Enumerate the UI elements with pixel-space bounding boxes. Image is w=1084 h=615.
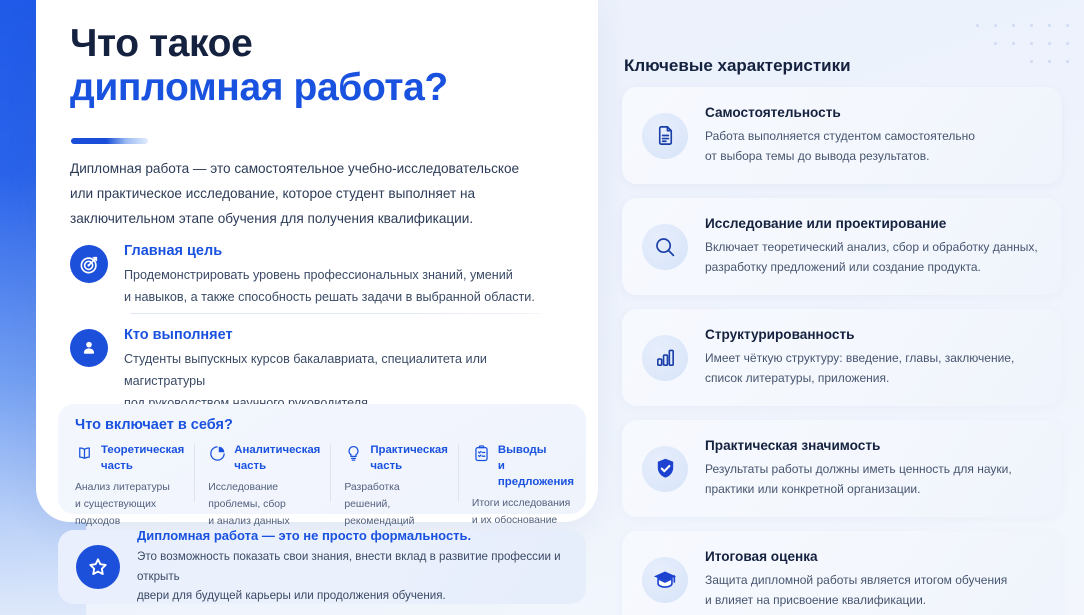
card-desc-line: от выбора темы до вывода результатов.: [705, 146, 975, 166]
characteristic-card-structure: Структурированность Имеет чёткую структу…: [622, 309, 1062, 406]
includes-title-line: Выводы: [498, 443, 574, 459]
graduation-cap-icon: [642, 557, 688, 603]
target-icon: [70, 245, 108, 283]
includes-desc-line: Итоги исследования: [472, 496, 574, 513]
bar-chart-icon: [642, 335, 688, 381]
includes-title-line: Аналитическая: [234, 443, 320, 459]
card-desc-line: список литературы, приложения.: [705, 368, 1014, 388]
star-icon: [76, 545, 120, 589]
card-desc-line: Работа выполняется студентом самостоятел…: [705, 126, 975, 146]
includes-title-line: часть: [101, 459, 184, 475]
feature-title: Главная цель: [124, 243, 535, 259]
banner-desc-line: двери для будущей карьеры или продолжени…: [137, 586, 568, 606]
dot-grid-decoration: [976, 14, 1072, 66]
right-column-title: Ключевые характеристики: [624, 56, 851, 76]
person-icon: [70, 329, 108, 367]
includes-desc-line: проблемы, сбор: [208, 497, 320, 514]
clipboard-check-icon: [472, 444, 491, 468]
card-desc-line: Защита дипломной работы является итогом …: [705, 570, 1007, 590]
magnifier-icon: [642, 224, 688, 270]
includes-title-line: Практическая: [370, 443, 448, 459]
feature-desc-line: и навыков, а также способность решать за…: [124, 286, 535, 308]
card-title: Самостоятельность: [705, 105, 975, 120]
book-icon: [75, 444, 94, 468]
intro-paragraph: Дипломная работа — это самостоятельное у…: [70, 156, 570, 231]
includes-title-line: часть: [370, 459, 448, 475]
card-title: Итоговая оценка: [705, 549, 1007, 564]
key-characteristics-list: Самостоятельность Работа выполняется сту…: [622, 87, 1062, 615]
card-desc-line: Результаты работы должны иметь ценность …: [705, 459, 1012, 479]
card-desc-line: Имеет чёткую структуру: введение, главы,…: [705, 348, 1014, 368]
feature-desc-line: Студенты выпускных курсов бакалавриата, …: [124, 348, 570, 392]
banner-desc-line: Это возможность показать свои знания, вн…: [137, 547, 568, 586]
includes-title: Что включает в себя?: [75, 417, 569, 433]
includes-title-line: и предложения: [498, 459, 574, 491]
characteristic-card-final-grade: Итоговая оценка Защита дипломной работы …: [622, 531, 1062, 615]
card-desc-line: практики или конкретной организации.: [705, 479, 1012, 499]
page-title-line2: дипломная работа?: [70, 66, 590, 110]
feature-desc-line: Продемонстрировать уровень профессиональ…: [124, 264, 535, 286]
card-desc-line: Включает теоретический анализ, сбор и об…: [705, 237, 1038, 257]
lightbulb-icon: [344, 444, 363, 468]
bottom-banner: Дипломная работа — это не просто формаль…: [58, 530, 586, 604]
includes-box: Что включает в себя? Теоретическая часть: [58, 404, 586, 514]
document-icon: [642, 113, 688, 159]
card-title: Практическая значимость: [705, 438, 1012, 453]
title-accent-bar: [71, 138, 148, 144]
characteristic-card-research: Исследование или проектирование Включает…: [622, 198, 1062, 295]
intro-line: заключительном этапе обучения для получе…: [70, 206, 570, 231]
infographic-page: Что такое дипломная работа? Дипломная ра…: [0, 0, 1084, 615]
intro-line: или практическое исследование, которое с…: [70, 181, 570, 206]
characteristic-card-practical-value: Практическая значимость Результаты работ…: [622, 420, 1062, 517]
shield-check-icon: [642, 446, 688, 492]
feature-divider: [130, 313, 540, 314]
includes-desc-line: Исследование: [208, 480, 320, 497]
includes-title-line: Теоретическая: [101, 443, 184, 459]
feature-main-goal: Главная цель Продемонстрировать уровень …: [70, 243, 570, 308]
intro-line: Дипломная работа — это самостоятельное у…: [70, 156, 570, 181]
card-desc-line: и влияет на присвоение квалификации.: [705, 590, 1007, 610]
page-title-line1: Что такое: [70, 22, 590, 66]
includes-desc-line: и существующих: [75, 497, 184, 514]
page-title: Что такое дипломная работа?: [70, 22, 590, 109]
pie-chart-icon: [208, 444, 227, 468]
characteristic-card-independence: Самостоятельность Работа выполняется сту…: [622, 87, 1062, 184]
feature-title: Кто выполняет: [124, 327, 570, 343]
banner-title: Дипломная работа — это не просто формаль…: [137, 528, 568, 543]
includes-desc-line: Разработка решений,: [344, 480, 448, 514]
card-desc-line: разработку предложений или создание прод…: [705, 257, 1038, 277]
card-title: Исследование или проектирование: [705, 216, 1038, 231]
feature-who-performs: Кто выполняет Студенты выпускных курсов …: [70, 327, 570, 414]
includes-title-line: часть: [234, 459, 320, 475]
includes-desc-line: Анализ литературы: [75, 480, 184, 497]
card-title: Структурированность: [705, 327, 1014, 342]
